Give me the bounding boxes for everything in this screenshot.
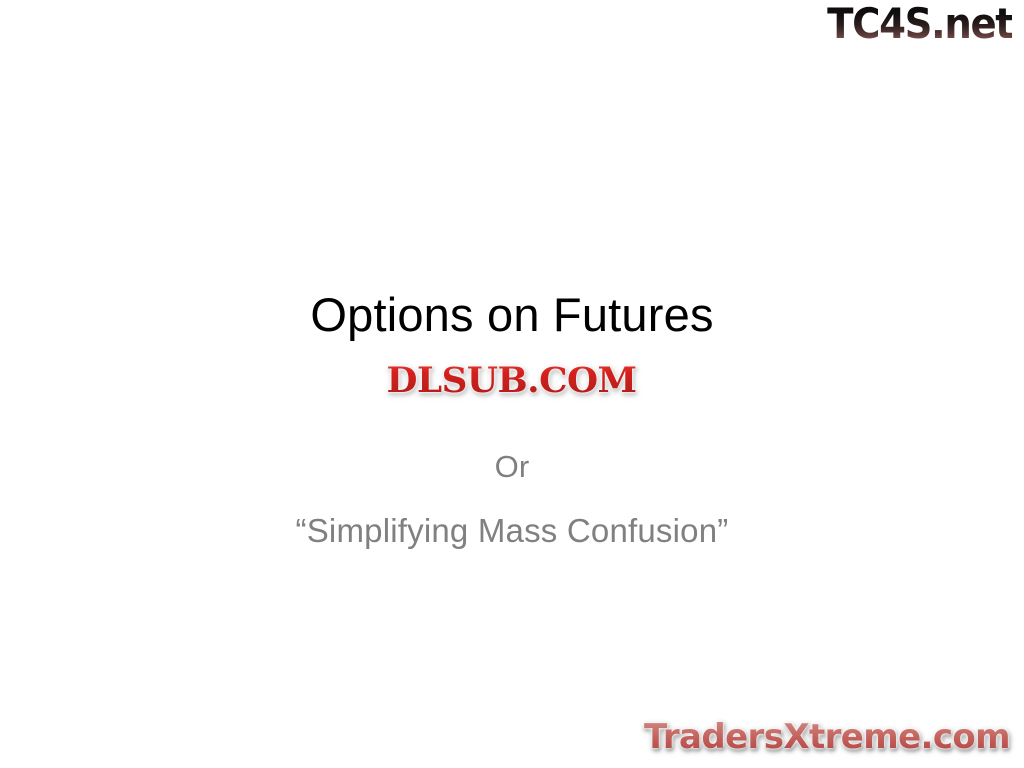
dlsub-watermark: DLSUB.COM (0, 362, 1024, 400)
subtitle-line-2: “Simplifying Mass Confusion” (0, 508, 1024, 554)
title-block: Options on Futures (0, 286, 1024, 344)
page-title: Options on Futures (0, 286, 1024, 344)
subtitle-block: Or “Simplifying Mass Confusion” (0, 444, 1024, 554)
dlsub-watermark-text: DLSUB.COM (387, 362, 637, 400)
subtitle-line-1: Or (0, 444, 1024, 489)
presentation-slide: TC4S.net Options on Futures DLSUB.COM Or… (0, 0, 1024, 768)
tc4s-logo: TC4S.net (827, 2, 1012, 46)
tradersxtreme-watermark: TradersXtreme.com (644, 718, 1010, 756)
tradersxtreme-watermark-text: TradersXtreme.com (644, 718, 1010, 756)
